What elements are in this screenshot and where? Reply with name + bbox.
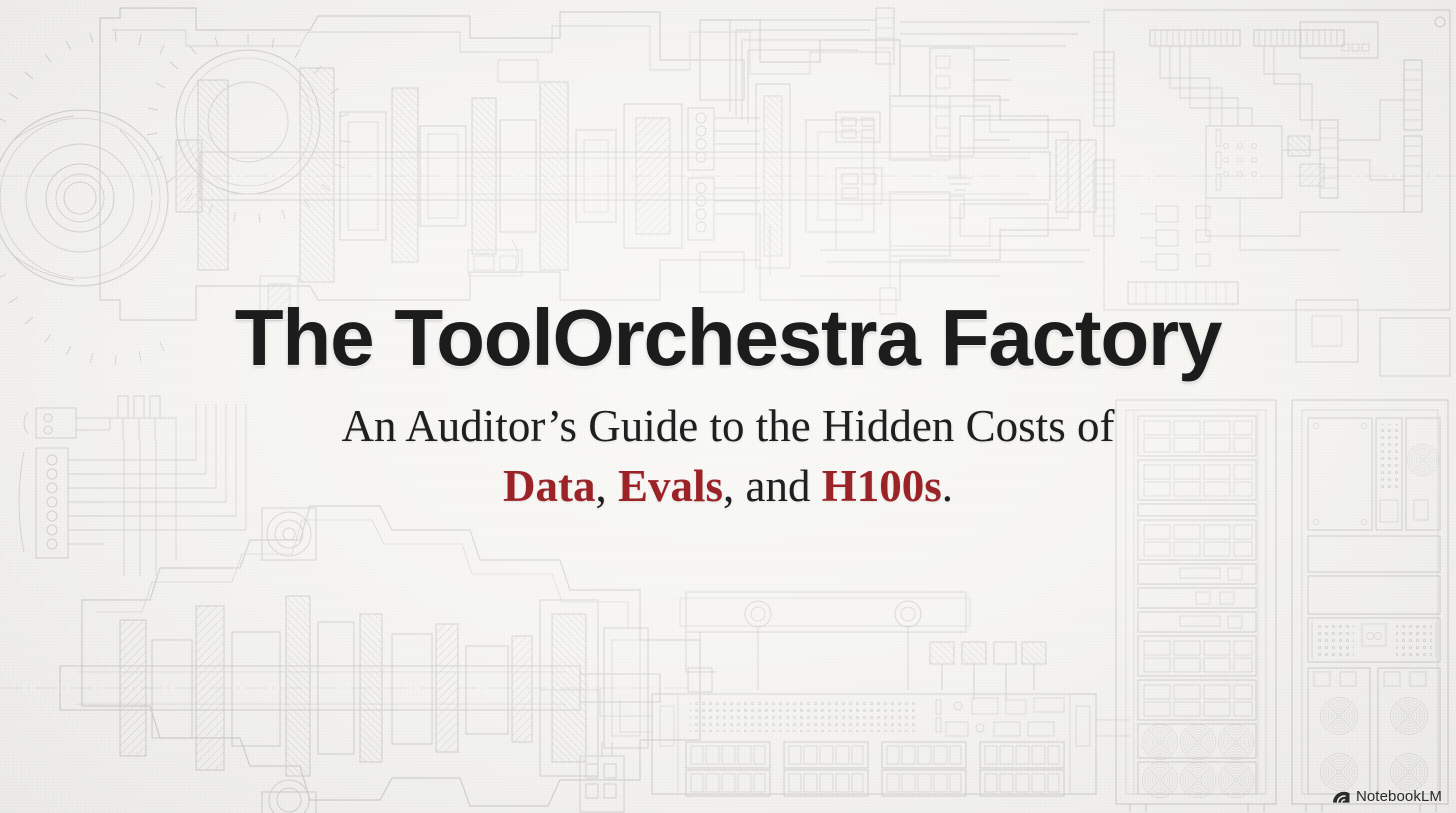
keyword-h100s: H100s xyxy=(822,461,942,511)
subtitle-line-2: Data, Evals, and H100s. xyxy=(0,457,1456,517)
keyword-evals: Evals xyxy=(618,461,723,511)
watermark-label: NotebookLM xyxy=(1356,788,1442,805)
shaft-bearing-assembly-drawing xyxy=(0,506,700,813)
subtitle-sep-1: , xyxy=(595,461,618,511)
notebooklm-spiral-icon xyxy=(1332,789,1351,804)
title-text-block: The ToolOrchestra Factory An Auditor’s G… xyxy=(0,296,1456,516)
subtitle-sep-2: , and xyxy=(723,461,822,511)
page-subtitle: An Auditor’s Guide to the Hidden Costs o… xyxy=(0,397,1456,517)
subtitle-period: . xyxy=(942,461,953,511)
title-slide: The ToolOrchestra Factory An Auditor’s G… xyxy=(0,0,1456,813)
notebooklm-watermark: NotebookLM xyxy=(1332,788,1442,805)
subtitle-line-1: An Auditor’s Guide to the Hidden Costs o… xyxy=(342,401,1115,451)
page-title: The ToolOrchestra Factory xyxy=(0,296,1456,381)
keyword-data: Data xyxy=(503,461,595,511)
